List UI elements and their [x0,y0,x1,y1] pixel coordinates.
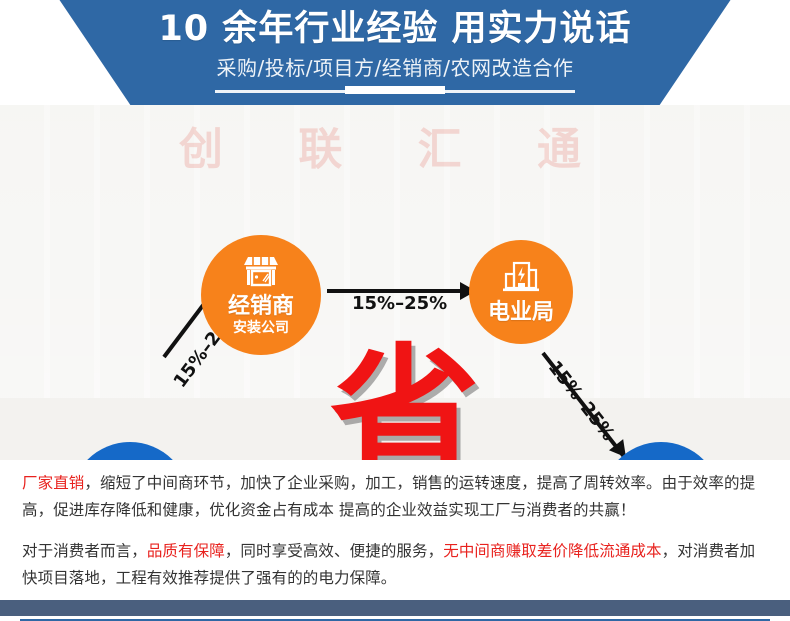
promo-banner-page: 10 余年行业经验 用实力说话 采购/投标/项目方/经销商/农网改造合作 创 联… [0,0,790,621]
header-subtitle: 采购/投标/项目方/经销商/农网改造合作 [0,55,790,81]
node-bureau[interactable]: 电业局 [469,240,573,344]
paragraph-1-rest: ，缩短了中间商环节，加快了企业采购，加工，销售的运转速度，提高了周转效率。由于效… [22,474,755,519]
node-bureau-label: 电业局 [488,300,554,325]
paragraph-2-highlight-1: 品质有保障 [147,542,225,560]
footer-bar [0,600,790,616]
paragraph-1: 厂家直销，缩短了中间商环节，加快了企业采购，加工，销售的运转速度，提高了周转效率… [22,470,768,524]
paragraph-2-highlight-2: 无中间商赚取差价降低流通成本 [443,542,661,560]
center-savings-character: 省 [330,343,480,460]
paragraph-2: 对于消费者而言，品质有保障，同时享受高效、便捷的服务，无中间商赚取差价降低流通成… [22,538,768,592]
paragraph-1-highlight: 厂家直销 [22,474,84,492]
node-dealer-label: 经销商 [228,294,294,319]
description-section: 厂家直销，缩短了中间商环节，加快了企业采购，加工，销售的运转速度，提高了周转效率… [0,462,790,584]
arrow-dealer-to-bureau-label: 15%–25% [352,293,447,314]
diagram-canvas: 创 联 汇 通 省 15%–25% 15%–25% 15%–25% 在这里省了中… [0,105,790,460]
header-underline-center-block [345,86,445,94]
paragraph-2-mid: ，同时享受高效、便捷的服务， [225,542,443,560]
node-dealer[interactable]: 经销商 安装公司 [201,235,321,355]
paragraph-2-lead: 对于消费者而言， [22,542,147,560]
header-title: 10 余年行业经验 用实力说话 [0,8,790,50]
shop-icon [240,254,282,292]
power-building-icon [501,260,541,298]
watermark-text: 创 联 汇 通 [0,113,790,177]
header-banner: 10 余年行业经验 用实力说话 采购/投标/项目方/经销商/农网改造合作 [0,0,790,105]
node-dealer-sublabel: 安装公司 [233,319,289,337]
